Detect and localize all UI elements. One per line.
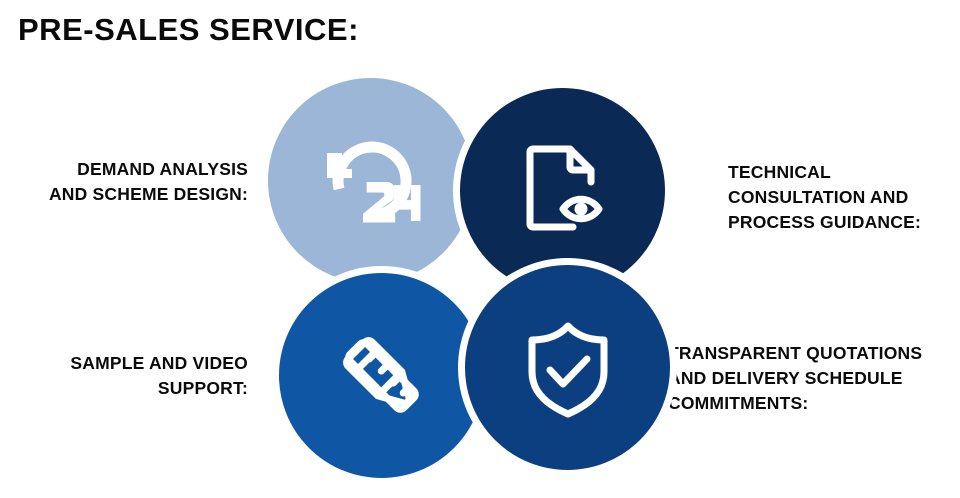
- 24-hour-rotate-icon: [268, 78, 473, 283]
- page-title: PRE-SALES SERVICE:: [18, 12, 359, 48]
- label-line: SUPPORT:: [0, 376, 248, 401]
- label-line: SAMPLE AND VIDEO: [0, 351, 248, 376]
- label-line: COMMITMENTS:: [668, 391, 960, 416]
- label-line: AND DELIVERY SCHEDULE: [668, 366, 960, 391]
- label-line: TRANSPARENT QUOTATIONS: [668, 341, 960, 366]
- label-line: TECHNICAL: [728, 160, 960, 185]
- label-line: CONSULTATION AND: [728, 185, 960, 210]
- label-transparent-quotations: TRANSPARENT QUOTATIONS AND DELIVERY SCHE…: [668, 341, 960, 416]
- circle-cluster: [268, 78, 684, 490]
- label-sample-video-support: SAMPLE AND VIDEO SUPPORT:: [0, 351, 248, 401]
- pen-ruler-icon: [279, 273, 484, 478]
- label-demand-analysis: DEMAND ANALYSIS AND SCHEME DESIGN:: [0, 157, 248, 207]
- label-technical-consultation: TECHNICAL CONSULTATION AND PROCESS GUIDA…: [728, 160, 960, 235]
- circle-transparent-quotations[interactable]: [458, 258, 677, 477]
- shield-check-icon: [465, 265, 670, 470]
- circle-demand-analysis[interactable]: [268, 78, 473, 283]
- label-line: DEMAND ANALYSIS: [0, 157, 248, 182]
- label-line: PROCESS GUIDANCE:: [728, 210, 960, 235]
- pre-sales-service-infographic: PRE-SALES SERVICE:: [0, 0, 960, 498]
- label-line: AND SCHEME DESIGN:: [0, 182, 248, 207]
